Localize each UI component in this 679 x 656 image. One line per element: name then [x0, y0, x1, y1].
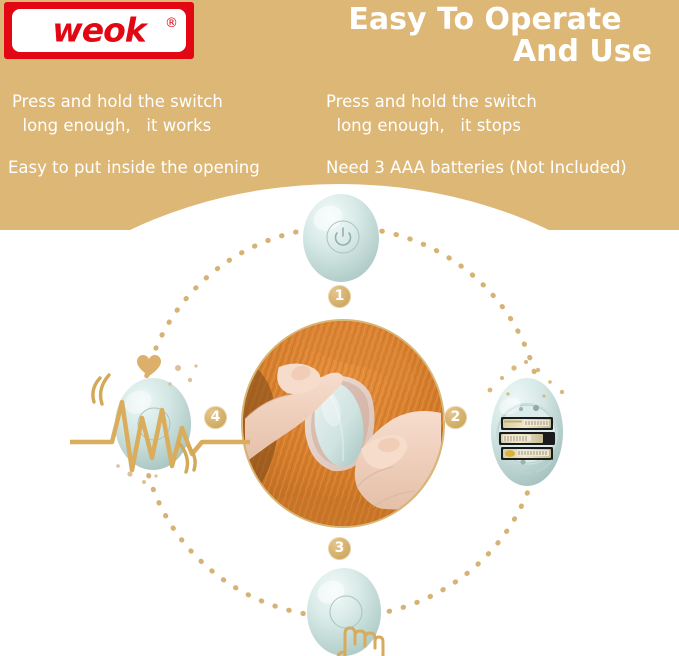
brand-logo: weok ®: [4, 2, 194, 59]
battery-slot: [499, 432, 555, 445]
device-body-icon: [112, 376, 194, 472]
center-photo-hands-inserting-device: [241, 319, 445, 528]
battery-slot: [501, 447, 553, 460]
step-3-device: [305, 566, 383, 656]
step-badge-2: 2: [444, 406, 467, 429]
battery-slot: [501, 417, 553, 430]
step-badge-4: 4: [204, 406, 227, 429]
instruction-stop: Press and hold the switch long enough, i…: [326, 90, 537, 138]
step-2-device: [488, 376, 566, 488]
step-1-device: [300, 192, 382, 284]
step-badge-3: 3: [328, 537, 351, 560]
steps-diagram: 1: [0, 180, 679, 656]
product-infographic: weok ® Easy To Operate And Use Press and…: [0, 0, 679, 656]
plush-toy-photo-illustration: [243, 321, 443, 526]
step-badge-1: 1: [328, 285, 351, 308]
title-line-1: Easy To Operate: [300, 4, 670, 36]
step-4-device: [112, 376, 194, 472]
instruction-start: Press and hold the switch long enough, i…: [12, 90, 223, 138]
title-line-2: And Use: [300, 36, 670, 68]
logo-inner-plate: weok ®: [10, 7, 188, 54]
page-title: Easy To Operate And Use: [300, 4, 670, 69]
instruction-insert: Easy to put inside the opening: [8, 156, 260, 180]
battery-compartment-icon: [488, 376, 566, 488]
instruction-batteries: Need 3 AAA batteries (Not Included): [326, 156, 627, 180]
logo-wordmark: weok: [52, 10, 146, 49]
device-body-icon: [300, 192, 382, 284]
registered-trademark-icon: ®: [165, 16, 178, 31]
device-body-icon: [305, 566, 383, 656]
